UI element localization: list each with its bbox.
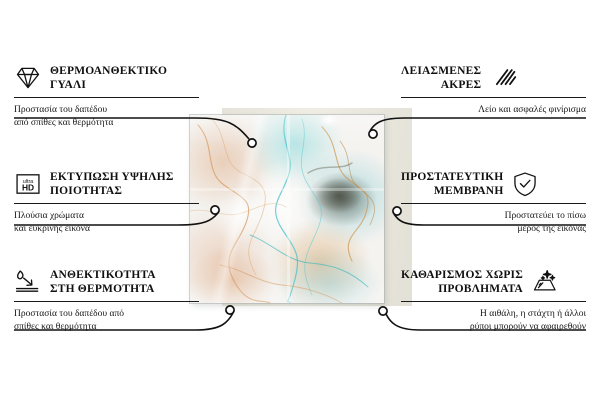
- feature-high-quality-print: ultra HD ΕΚΤΥΠΩΣΗ ΥΨΗΛΗΣ ΠΟΙΟΤΗΤΑΣ Πλούσ…: [14, 170, 199, 235]
- feature-description: Προστασία του δαπέδου από σπίθες και θερ…: [14, 308, 199, 333]
- polished-edges-icon: [489, 64, 517, 92]
- feature-title: ΚΑΘΑΡΙΣΜΟΣ ΧΩΡΙΣ ΠΡΟΒΛΗΜΑΤΑ: [401, 268, 523, 296]
- feature-divider: [401, 203, 586, 204]
- feature-header: ΚΑΘΑΡΙΣΜΟΣ ΧΩΡΙΣ ΠΡΟΒΛΗΜΑΤΑ: [401, 268, 586, 296]
- feature-heat-resistant-glass: ΘΕΡΜΟΑΝΘΕΚΤΙΚΟ ΓΥΑΛΙ Προστασία του δαπέδ…: [14, 64, 199, 129]
- connector-dot-1: [248, 139, 256, 147]
- feature-title: ΘΕΡΜΟΑΝΘΕΚΤΙΚΟ ΓΥΑΛΙ: [50, 64, 167, 92]
- connector-dot-2: [211, 206, 219, 214]
- shield-check-icon: [511, 170, 539, 198]
- feature-header: ultra HD ΕΚΤΥΠΩΣΗ ΥΨΗΛΗΣ ΠΟΙΟΤΗΤΑΣ: [14, 170, 199, 198]
- feature-heat-resistance: ΑΝΘΕΚΤΙΚΟΤΗΤΑ ΣΤΗ ΘΕΡΜΟΤΗΤΑ Προστασία το…: [14, 268, 199, 333]
- feature-divider: [401, 97, 586, 98]
- ultra-hd-icon: ultra HD: [14, 170, 42, 198]
- connector-dot-3: [226, 306, 234, 314]
- feature-divider: [14, 301, 199, 302]
- feature-description: Η αιθάλη, η στάχτη ή άλλοι ρύποι μπορούν…: [401, 308, 586, 333]
- feature-title: ΑΝΘΕΚΤΙΚΟΤΗΤΑ ΣΤΗ ΘΕΡΜΟΤΗΤΑ: [50, 268, 156, 296]
- heat-resistance-icon: [14, 268, 42, 296]
- feature-header: ΘΕΡΜΟΑΝΘΕΚΤΙΚΟ ΓΥΑΛΙ: [14, 64, 199, 92]
- feature-description: Προστασία του δαπέδου από σπίθες και θερ…: [14, 104, 199, 129]
- feature-header: ΑΝΘΕΚΤΙΚΟΤΗΤΑ ΣΤΗ ΘΕΡΜΟΤΗΤΑ: [14, 268, 199, 296]
- infographic-root: ΘΕΡΜΟΑΝΘΕΚΤΙΚΟ ΓΥΑΛΙ Προστασία του δαπέδ…: [0, 0, 600, 400]
- feature-easy-cleaning: ΚΑΘΑΡΙΣΜΟΣ ΧΩΡΙΣ ΠΡΟΒΛΗΜΑΤΑ Η αιθάλη, η …: [401, 268, 586, 333]
- feature-description: Πλούσια χρώματα και ευκρινής εικόνα: [14, 210, 199, 235]
- feature-header: ΠΡΟΣΤΑΤΕΥΤΙΚΗ ΜΕΜΒΡΑΝΗ: [401, 170, 586, 198]
- feature-protective-membrane: ΠΡΟΣΤΑΤΕΥΤΙΚΗ ΜΕΜΒΡΑΝΗ Προστατεύει το πί…: [401, 170, 586, 235]
- svg-text:HD: HD: [22, 182, 34, 192]
- connector-dot-6: [379, 307, 387, 315]
- feature-polished-edges: ΛΕΙΑΣΜΕΝΕΣ ΑΚΡΕΣ Λείο και ασφαλές φινίρι…: [401, 64, 586, 117]
- feature-description: Προστατεύει το πίσω μέρος της εικόνας: [401, 210, 586, 235]
- feature-header: ΛΕΙΑΣΜΕΝΕΣ ΑΚΡΕΣ: [401, 64, 586, 92]
- feature-title: ΕΚΤΥΠΩΣΗ ΥΨΗΛΗΣ ΠΟΙΟΤΗΤΑΣ: [50, 170, 174, 198]
- easy-cleaning-icon: [531, 268, 559, 296]
- feature-description: Λείο και ασφαλές φινίρισμα: [401, 104, 586, 117]
- feature-title: ΠΡΟΣΤΑΤΕΥΤΙΚΗ ΜΕΜΒΡΑΝΗ: [401, 170, 503, 198]
- connector-dot-5: [393, 207, 401, 215]
- feature-divider: [401, 301, 586, 302]
- feature-title: ΛΕΙΑΣΜΕΝΕΣ ΑΚΡΕΣ: [401, 64, 481, 92]
- connector-dot-4: [369, 130, 377, 138]
- feature-divider: [14, 97, 199, 98]
- diamond-icon: [14, 64, 42, 92]
- feature-divider: [14, 203, 199, 204]
